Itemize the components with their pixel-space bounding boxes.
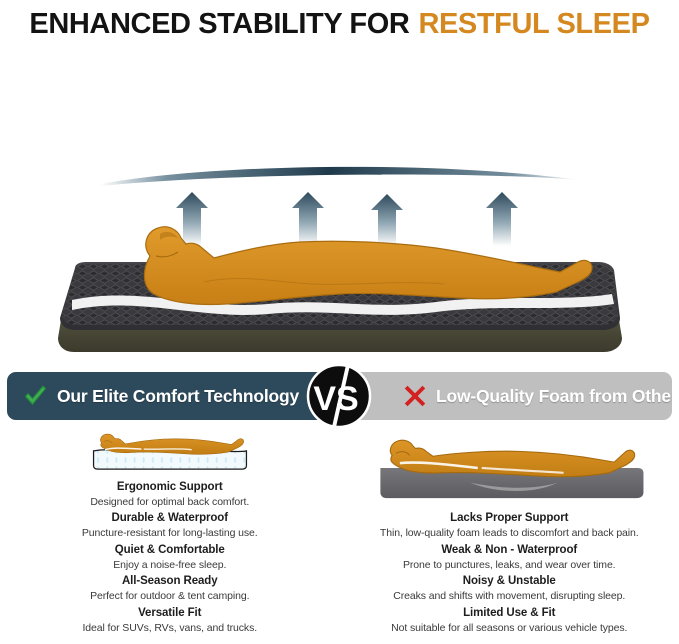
comparison-body: Ergonomic Support Designed for optimal b…	[0, 424, 679, 636]
feature-title: Versatile Fit	[0, 605, 340, 621]
support-arrow	[292, 192, 324, 246]
elite-feature-list: Ergonomic Support Designed for optimal b…	[0, 479, 340, 637]
page-title-primary: ENHANCED STABILITY FOR	[29, 10, 409, 39]
check-icon	[22, 383, 48, 409]
feature-desc: Enjoy a noise-free sleep.	[0, 558, 340, 574]
feature-desc: Puncture-resistant for long-lasting use.	[0, 526, 340, 542]
feature-title: Noisy & Unstable	[340, 573, 679, 589]
hero-illustration	[0, 46, 679, 362]
cross-icon	[403, 384, 427, 408]
sleeping-person	[144, 227, 592, 305]
comparison-header: Our Elite Comfort Technology Low-Quality…	[0, 372, 679, 424]
feature-desc: Designed for optimal back comfort.	[0, 495, 340, 511]
air-flow-swoosh	[100, 167, 580, 186]
support-arrow	[486, 192, 518, 246]
feature-title: Lacks Proper Support	[340, 510, 679, 526]
feature-desc: Not suitable for all seasons or various …	[340, 621, 679, 637]
lowquality-sleeping-person	[391, 440, 635, 476]
page-title: ENHANCED STABILITY FOR RESTFUL SLEEP	[0, 0, 679, 46]
feature-title: Limited Use & Fit	[340, 605, 679, 621]
feature-desc: Prone to punctures, leaks, and wear over…	[340, 558, 679, 574]
support-arrow	[371, 194, 403, 246]
page-title-accent: RESTFUL SLEEP	[418, 10, 649, 39]
feature-title: Ergonomic Support	[0, 479, 340, 495]
comparison-column-left: Ergonomic Support Designed for optimal b…	[0, 424, 340, 636]
feature-title: Quiet & Comfortable	[0, 542, 340, 558]
feature-desc: Ideal for SUVs, RVs, vans, and trucks.	[0, 621, 340, 637]
person-body	[144, 227, 592, 305]
comparison-left-header[interactable]: Our Elite Comfort Technology	[7, 372, 343, 420]
elite-sleeping-person	[100, 434, 243, 454]
comparison-right-header[interactable]: Low-Quality Foam from Others	[343, 372, 672, 420]
comparison-left-label: Our Elite Comfort Technology	[57, 386, 299, 407]
versus-label: VS	[313, 380, 358, 418]
hero-svg	[0, 46, 679, 362]
feature-title: Durable & Waterproof	[0, 510, 340, 526]
feature-desc: Creaks and shifts with movement, disrupt…	[340, 589, 679, 605]
feature-desc: Perfect for outdoor & tent camping.	[0, 589, 340, 605]
lowquality-mattress-illustration	[359, 428, 659, 504]
support-arrows	[176, 192, 518, 246]
comparison-right-label: Low-Quality Foam from Others	[436, 386, 672, 407]
comparison-column-right: Lacks Proper Support Thin, low-quality f…	[340, 424, 679, 636]
feature-title: All-Season Ready	[0, 573, 340, 589]
versus-badge: VS	[306, 363, 372, 429]
feature-desc: Thin, low-quality foam leads to discomfo…	[340, 526, 679, 542]
lowquality-feature-list: Lacks Proper Support Thin, low-quality f…	[340, 510, 679, 636]
elite-mattress-illustration	[20, 428, 320, 473]
feature-title: Weak & Non - Waterproof	[340, 542, 679, 558]
